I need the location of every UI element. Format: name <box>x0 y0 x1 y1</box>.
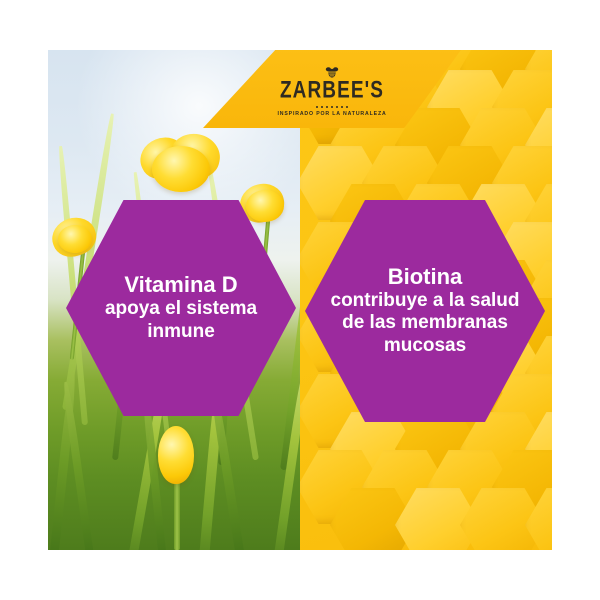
flower-stem <box>174 480 180 550</box>
logo-dot-row <box>316 106 348 108</box>
brand-logo: ZARBEE'S INSPIRADO POR LA NATURALEZA <box>203 50 461 128</box>
flower-bud <box>158 426 194 484</box>
callout-subtitle: contribuye a la salud de las membranas m… <box>327 290 523 357</box>
brand-wordmark: ZARBEE'S <box>280 78 384 102</box>
callout-subtitle: apoya el sistema inmune <box>92 298 270 343</box>
flower-head <box>152 146 210 192</box>
advertisement-image: ZARBEE'S INSPIRADO POR LA NATURALEZA Vit… <box>0 0 600 600</box>
callout-title: Vitamina D <box>124 273 237 296</box>
flower-head <box>246 190 284 222</box>
callout-title: Biotina <box>388 265 463 288</box>
creative-canvas: ZARBEE'S INSPIRADO POR LA NATURALEZA Vit… <box>48 50 552 550</box>
flower-head <box>58 225 92 253</box>
brand-tagline: INSPIRADO POR LA NATURALEZA <box>277 111 386 117</box>
